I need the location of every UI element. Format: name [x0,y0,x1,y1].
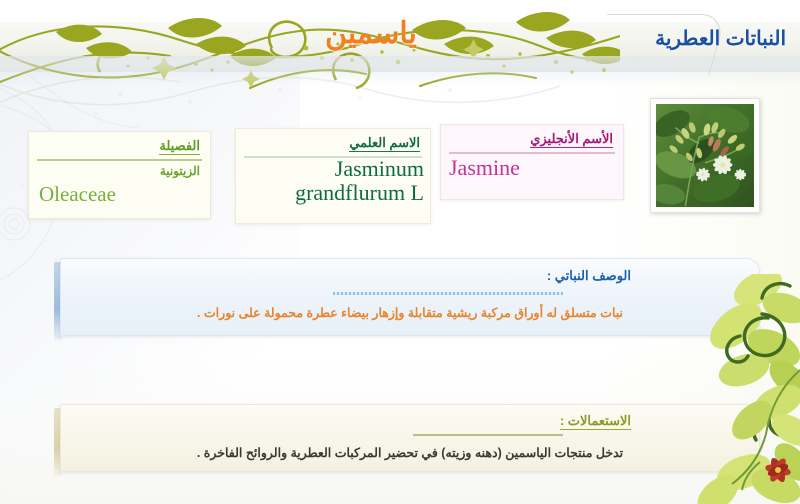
card-family-latin-value: Oleaceae [39,182,116,207]
jasmine-plant-illustration [656,104,754,207]
card-scientific-label: الاسم العلمي [349,135,420,152]
plant-photo-frame [650,98,760,213]
panel-description-heading: الوصف النباتي : [547,268,631,284]
card-english-label: الأسم الأنجليزي [530,131,613,148]
card-scientific-latin-value: Jasminum grandflurum L [244,157,424,205]
section-title: النباتات العطرية [655,26,786,51]
panel-uses-text: تدخل منتجات الياسمين (دهنه وزيته) في تحض… [61,445,759,460]
panel-uses-rule [413,434,563,436]
plant-photo [656,104,754,207]
card-family: الفصيلة الزيتونية Oleaceae [28,131,211,219]
card-scientific-name: الاسم العلمي Jasminum grandflurum L [235,128,431,224]
panel-description-text: نبات متسلق له أوراق مركبة ريشية متقابلة … [61,305,759,320]
card-english-rule [449,152,615,154]
card-family-rule [37,159,202,161]
card-english-name: الأسم الأنجليزي Jasmine [440,124,624,200]
panel-uses-heading: الاستعمالات : [560,413,631,430]
panel-uses: الاستعمالات : تدخل منتجات الياسمين (دهنه… [60,404,760,472]
card-english-latin-value: Jasmine [449,155,520,181]
page-title: ياسمين [325,16,417,51]
card-family-arabic-value: الزيتونية [160,164,200,178]
panel-description-body: الوصف النباتي : نبات متسلق له أوراق مركب… [60,258,760,336]
panel-description-rule [333,292,563,295]
panel-uses-body: الاستعمالات : تدخل منتجات الياسمين (دهنه… [60,404,760,472]
slide-canvas: النباتات العطرية ياسمين الفصيلة الزيتوني… [0,0,800,504]
panel-botanical-description: الوصف النباتي : نبات متسلق له أوراق مركب… [60,258,760,336]
card-family-label: الفصيلة [159,138,200,155]
